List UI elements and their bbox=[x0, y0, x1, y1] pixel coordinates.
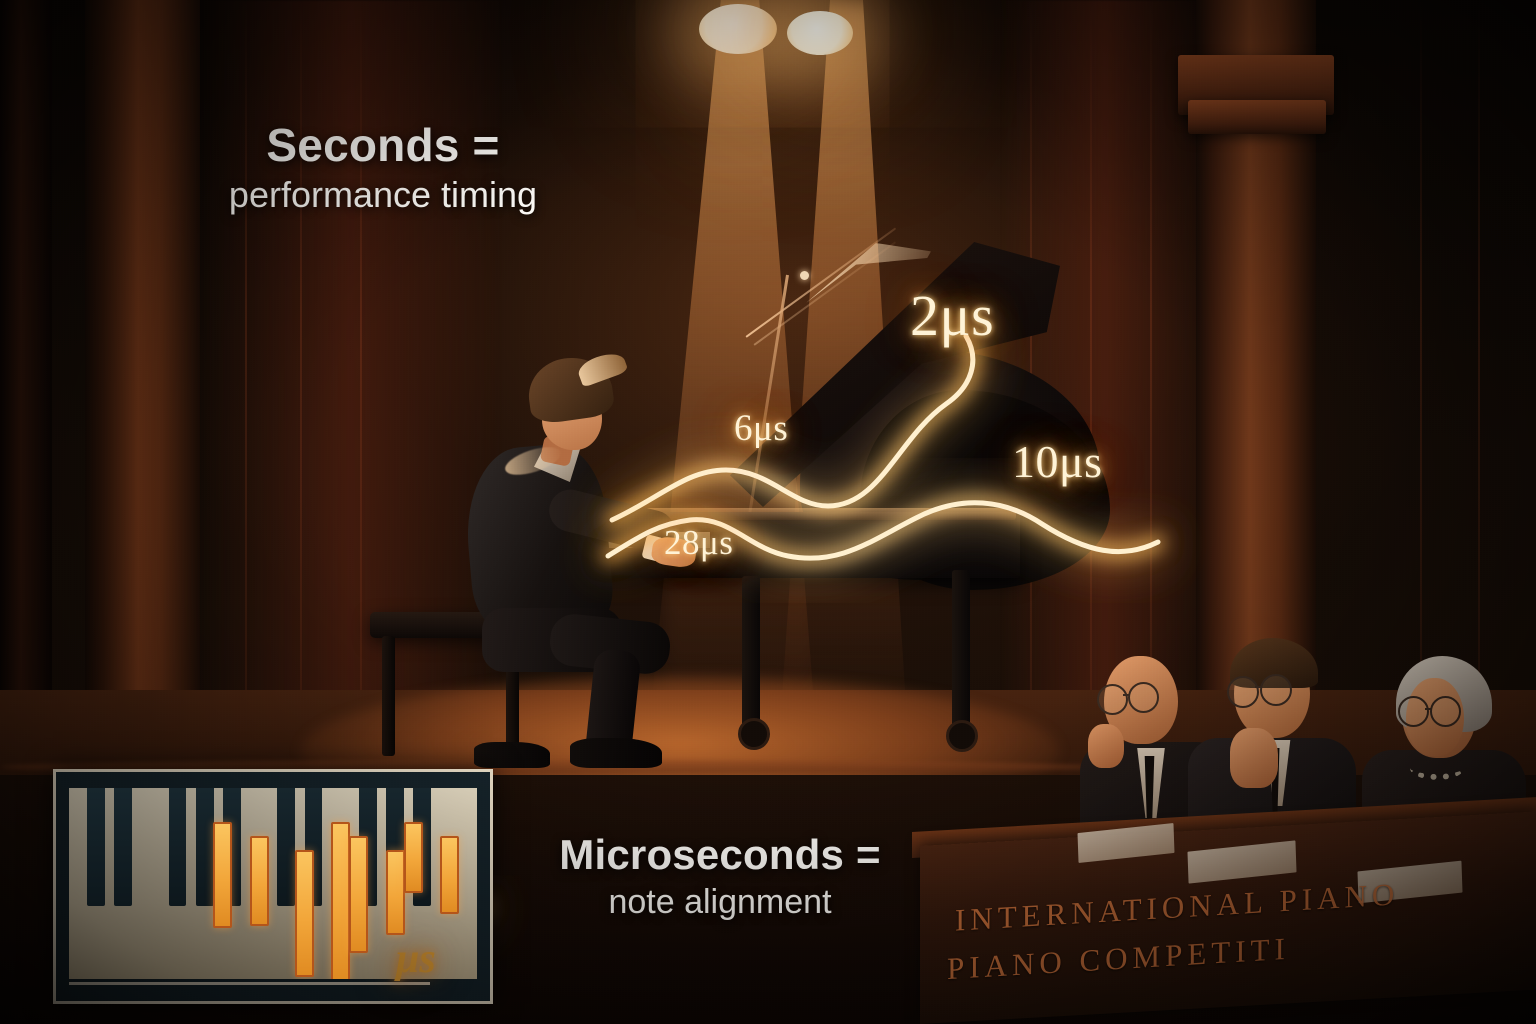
judge-center-glasses-bridge bbox=[1255, 686, 1262, 688]
judge-left-glasses-left bbox=[1097, 684, 1128, 715]
piano-bench-leg bbox=[382, 636, 395, 756]
note-velocity-bar[interactable] bbox=[404, 822, 423, 893]
judge-right-glasses-bridge bbox=[1425, 708, 1431, 710]
caption-bottom: Microseconds = note alignment bbox=[520, 830, 920, 924]
pianist-shoe-back bbox=[474, 742, 550, 768]
pianist-shoe-front bbox=[570, 738, 662, 768]
note-velocity-bar[interactable] bbox=[331, 822, 350, 979]
stage-illustration: INTERNATIONAL PIANO PIANO COMPETITI bbox=[0, 0, 1536, 1024]
judge-right-necklace bbox=[1410, 756, 1464, 780]
piano-lid-edge bbox=[753, 241, 896, 345]
piano-fallboard bbox=[710, 524, 1020, 578]
spotlight-lamp-right bbox=[787, 11, 853, 55]
judge-center-hands bbox=[1230, 728, 1278, 788]
note-velocity-bar[interactable] bbox=[295, 850, 314, 977]
caption-top-line2: performance timing bbox=[188, 172, 578, 218]
piano-leg bbox=[952, 570, 970, 728]
judge-center-glasses-right bbox=[1260, 674, 1292, 706]
piano-lid-knob bbox=[800, 271, 809, 280]
glow-label-2us: 2μs bbox=[910, 282, 994, 349]
keyboard-baseline bbox=[69, 982, 430, 985]
note-velocity-bar[interactable] bbox=[440, 836, 459, 914]
judge-left-glasses-bridge bbox=[1123, 694, 1130, 696]
glow-label-10us: 10μs bbox=[1012, 435, 1103, 488]
glow-label-6us: 6μs bbox=[734, 407, 788, 450]
judge-center-glasses-left bbox=[1227, 676, 1259, 708]
piano-black-key[interactable] bbox=[277, 788, 295, 906]
pillar-capital-right-lower bbox=[1188, 100, 1326, 134]
note-velocity-bar[interactable] bbox=[349, 836, 368, 952]
judge-left-glasses-right bbox=[1128, 682, 1159, 713]
microsecond-unit-label: μs bbox=[396, 935, 436, 983]
piano-lid-edge bbox=[745, 227, 896, 337]
caption-top-line1: Seconds = bbox=[188, 118, 578, 172]
piano-black-key[interactable] bbox=[169, 788, 187, 906]
judge-left-hand bbox=[1088, 724, 1124, 768]
note-velocity-bar[interactable] bbox=[213, 822, 232, 928]
caption-top: Seconds = performance timing bbox=[188, 118, 578, 218]
piano-leg bbox=[742, 576, 760, 726]
note-velocity-bar[interactable] bbox=[250, 836, 269, 926]
spotlight-lamp-left bbox=[699, 4, 777, 54]
caption-bottom-line1: Microseconds = bbox=[520, 830, 920, 880]
note-velocity-bar[interactable] bbox=[386, 850, 405, 935]
pianist bbox=[430, 350, 680, 770]
piano-caster bbox=[946, 720, 978, 752]
caption-bottom-line2: note alignment bbox=[520, 880, 920, 924]
piano-black-key[interactable] bbox=[87, 788, 105, 906]
judge-right-glasses-left bbox=[1398, 696, 1429, 727]
judge-right-glasses-right bbox=[1430, 696, 1461, 727]
piano-black-key[interactable] bbox=[196, 788, 214, 906]
piano-black-key[interactable] bbox=[114, 788, 132, 906]
glow-label-28us: 28μs bbox=[664, 523, 733, 563]
piano-caster bbox=[738, 718, 770, 750]
